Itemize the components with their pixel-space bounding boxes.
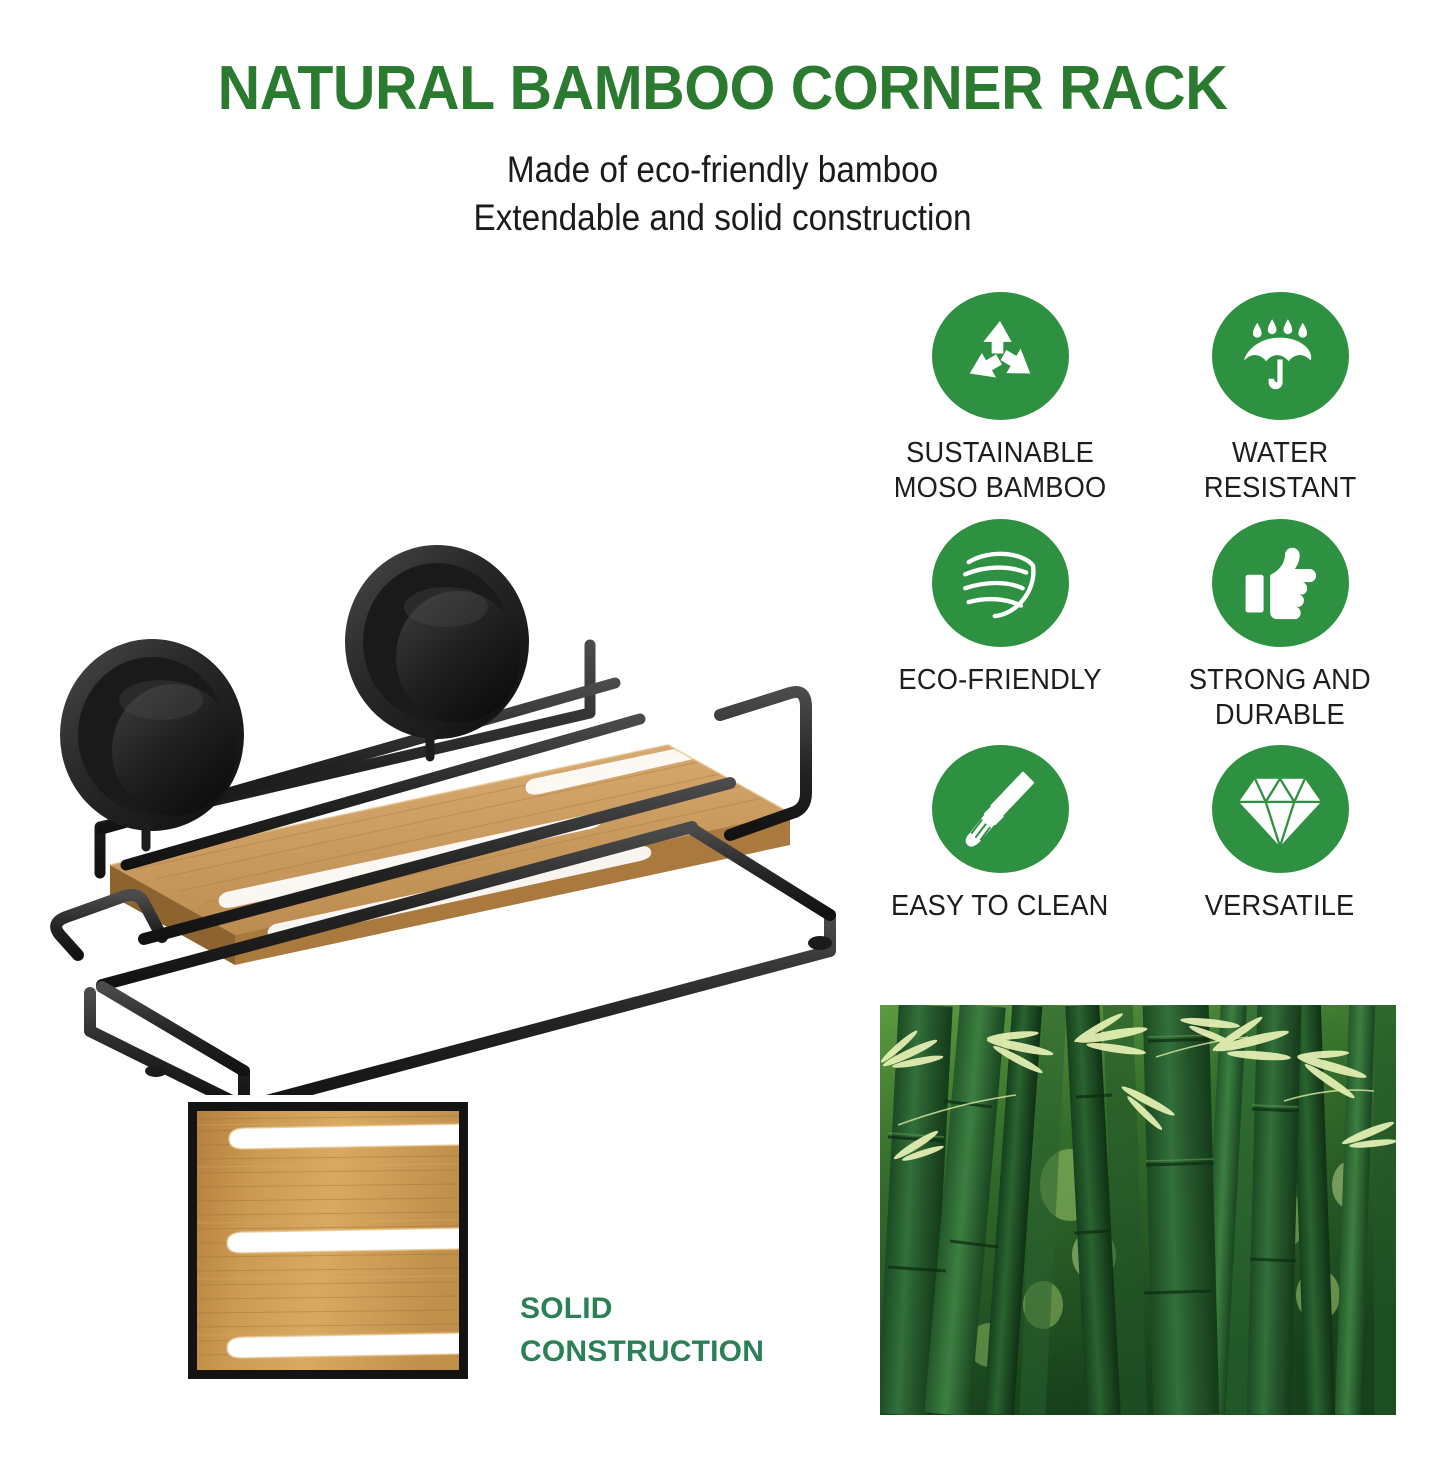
- suction-cup-left: [60, 639, 244, 847]
- solid-construction-caption: SOLID CONSTRUCTION: [520, 1288, 820, 1373]
- bamboo-slat-closeup-image: [197, 1111, 459, 1370]
- header-block: NATURAL BAMBOO CORNER RACK Made of eco-f…: [0, 0, 1445, 242]
- feature-label: VERSATILE: [1205, 889, 1355, 924]
- page-title: NATURAL BAMBOO CORNER RACK: [36, 0, 1409, 120]
- feature-badge: [932, 745, 1069, 873]
- solid-caption-line-2: CONSTRUCTION: [520, 1331, 820, 1374]
- feature-label: SUSTAINABLE MOSO BAMBOO: [894, 436, 1107, 507]
- feature-sustainable-moso-bamboo: SUSTAINABLE MOSO BAMBOO: [870, 292, 1130, 519]
- solid-caption-line-1: SOLID: [520, 1288, 820, 1331]
- feature-label: EASY TO CLEAN: [891, 889, 1109, 924]
- feature-badge: [1212, 292, 1349, 420]
- umbrella-rain-icon: [1236, 314, 1324, 398]
- feature-badge: [1212, 745, 1349, 873]
- subtitle-line-1: Made of eco-friendly bamboo: [72, 146, 1373, 194]
- feature-label: STRONG AND DURABLE: [1189, 663, 1371, 734]
- broom-icon: [959, 768, 1041, 850]
- page-subtitle: Made of eco-friendly bamboo Extendable a…: [72, 120, 1373, 242]
- bamboo-forest-image: [880, 1005, 1396, 1415]
- recycle-icon: [958, 316, 1042, 396]
- feature-label: ECO-FRIENDLY: [898, 663, 1101, 698]
- product-illustration: [30, 395, 870, 1095]
- feature-versatile: VERSATILE: [1150, 745, 1410, 972]
- product-image: [30, 395, 870, 1095]
- thumbs-up-icon: [1239, 543, 1321, 623]
- diamond-icon: [1235, 768, 1325, 850]
- bamboo-closeup-panel: [188, 1102, 468, 1379]
- feature-badge: [1212, 519, 1349, 647]
- feature-badge: [932, 292, 1069, 420]
- feature-eco-friendly: ECO-FRIENDLY: [870, 519, 1130, 746]
- suction-cup-right: [345, 545, 529, 757]
- bamboo-forest-panel: [880, 1005, 1396, 1415]
- feature-easy-to-clean: EASY TO CLEAN: [870, 745, 1130, 972]
- feature-label: WATER RESISTANT: [1204, 436, 1357, 507]
- feature-strong-and-durable: STRONG AND DURABLE: [1150, 519, 1410, 746]
- feature-grid: SUSTAINABLE MOSO BAMBOO WATER RESISTANT: [870, 292, 1410, 972]
- feature-badge: [932, 519, 1069, 647]
- subtitle-line-2: Extendable and solid construction: [72, 194, 1373, 242]
- feature-water-resistant: WATER RESISTANT: [1150, 292, 1410, 519]
- leaf-icon: [956, 543, 1044, 623]
